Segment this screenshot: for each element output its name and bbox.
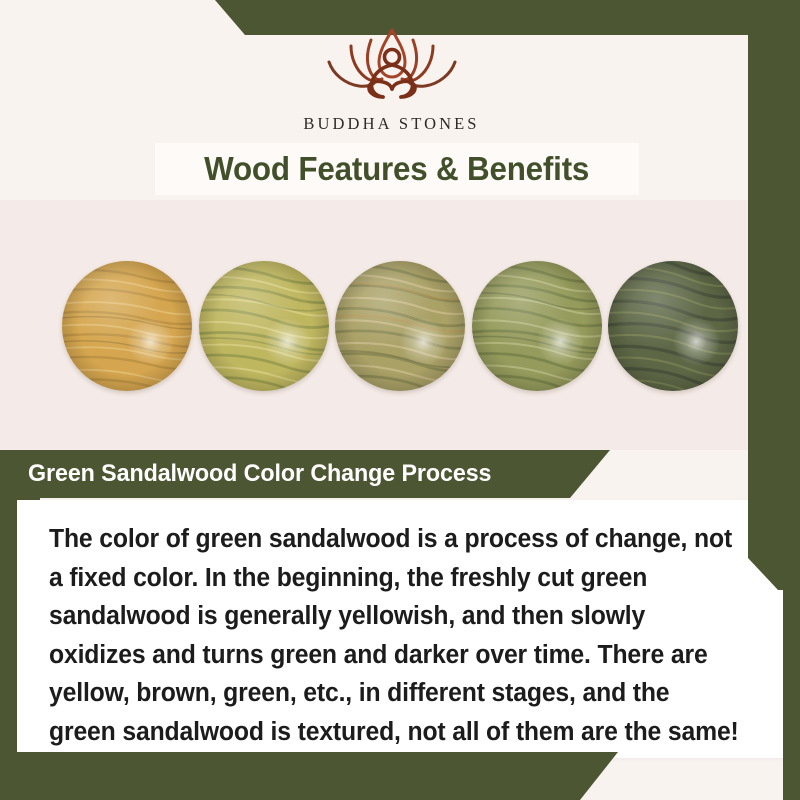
right-green-edge-bar	[783, 0, 800, 800]
bead-color-progression	[40, 253, 760, 398]
bead-shading	[608, 261, 738, 391]
bead-shading	[62, 261, 192, 391]
poster-root: BUDDHA STONES Wood Features & Benefits	[0, 0, 800, 800]
bead-shading	[199, 261, 329, 391]
bottom-green-accent-bar	[0, 752, 618, 800]
lotus-meditation-figure-icon	[307, 24, 477, 108]
bead-stage-3-olive-brown	[335, 261, 465, 391]
brand-name: BUDDHA STONES	[303, 114, 479, 134]
section-header-label: Green Sandalwood Color Change Process	[28, 460, 491, 488]
section-header-banner: Green Sandalwood Color Change Process	[0, 450, 610, 498]
description-card: The color of green sandalwood is a proce…	[17, 500, 783, 758]
bead-stage-1-golden-yellow	[62, 261, 192, 391]
page-title: Wood Features & Benefits	[204, 150, 589, 188]
bead-stage-2-yellow-green	[199, 261, 329, 391]
bead-stage-4-olive-green	[472, 261, 602, 391]
bead-stage-5-dark-green	[608, 261, 738, 391]
brand-logo: BUDDHA STONES	[0, 24, 783, 134]
description-paragraph: The color of green sandalwood is a proce…	[49, 520, 740, 751]
page-title-band: Wood Features & Benefits	[155, 143, 639, 195]
bead-shading	[335, 261, 465, 391]
bead-shading	[472, 261, 602, 391]
